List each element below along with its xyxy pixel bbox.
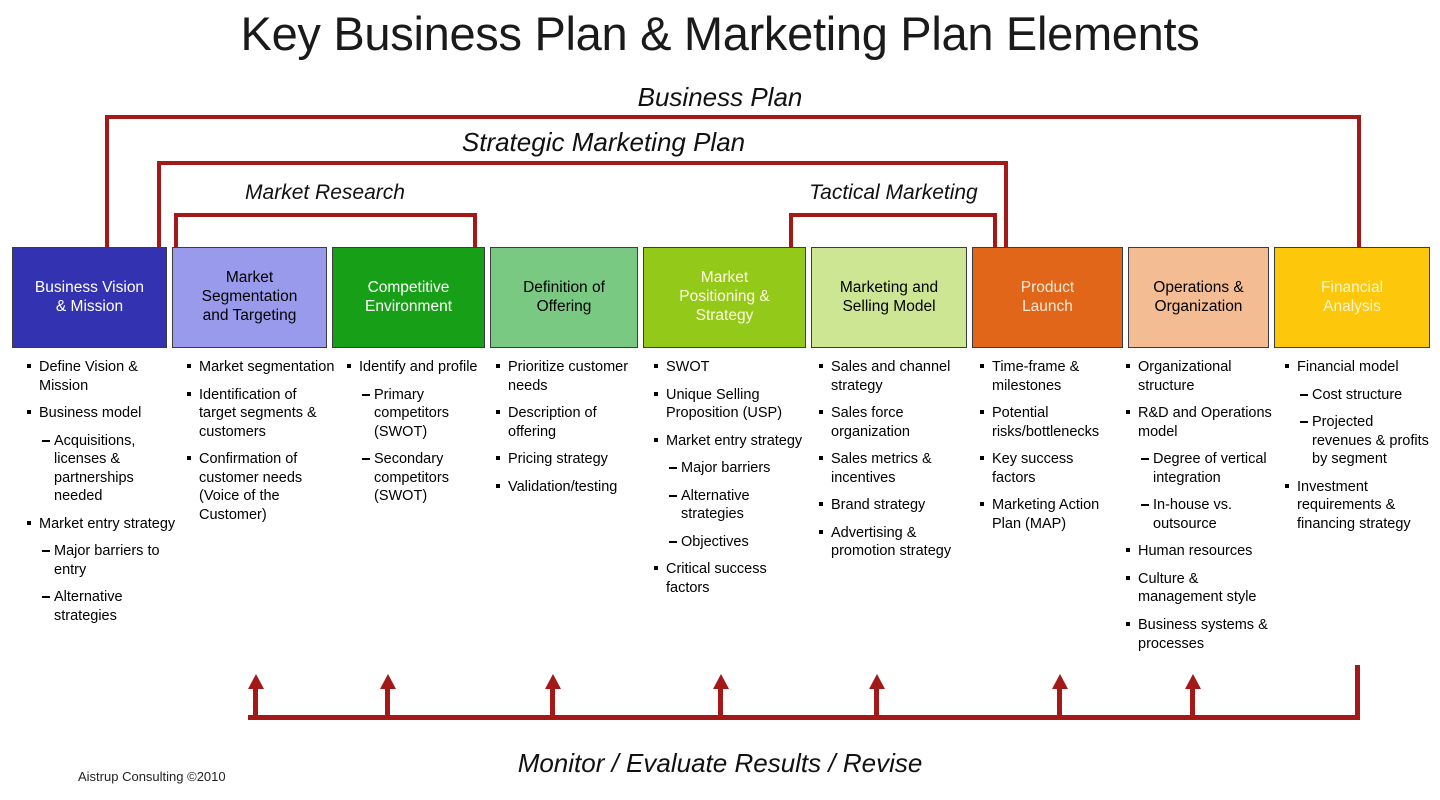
element-box-label: Financial Analysis [1321, 279, 1383, 317]
feedback-arrow-stem [550, 687, 555, 720]
label-market-research: Market Research [175, 181, 475, 205]
detail-list: Time-frame & milestonesPotential risks/b… [979, 358, 1119, 533]
bracket-market-research [174, 213, 477, 251]
list-sub-item: Alternative strategies [26, 588, 178, 625]
list-sub-item: Primary competitors (SWOT) [346, 386, 489, 442]
feedback-arrow-stem [385, 687, 390, 720]
detail-column: Market segmentationIdentification of tar… [186, 358, 336, 533]
list-item: Potential risks/bottlenecks [979, 404, 1119, 441]
list-item: Financial model [1284, 358, 1430, 377]
feedback-arrow-icon [713, 674, 729, 689]
list-item: Organizational structure [1125, 358, 1277, 395]
credit-line: Aistrup Consulting ©2010 [78, 769, 226, 784]
list-item: Prioritize customer needs [495, 358, 645, 395]
feedback-arrow-stem [253, 687, 258, 720]
label-tactical-marketing: Tactical Marketing [790, 181, 997, 205]
label-strategic-marketing-plan: Strategic Marketing Plan [0, 127, 1207, 158]
detail-column: SWOTUnique Selling Proposition (USP)Mark… [653, 358, 811, 606]
list-item: Culture & management style [1125, 570, 1277, 607]
list-item: Time-frame & milestones [979, 358, 1119, 395]
list-sub-item: Cost structure [1284, 386, 1430, 405]
feedback-arrow-icon [545, 674, 561, 689]
list-item: Description of offering [495, 404, 645, 441]
list-item: Critical success factors [653, 560, 811, 597]
detail-list: Prioritize customer needsDescription of … [495, 358, 645, 496]
detail-column: Identify and profilePrimary competitors … [346, 358, 489, 515]
element-box[interactable]: Market Segmentation and Targeting [172, 247, 327, 348]
feedback-right-riser [1355, 665, 1360, 720]
list-sub-item: Degree of vertical integration [1125, 450, 1277, 487]
detail-list: Define Vision & MissionBusiness modelAcq… [26, 358, 178, 626]
list-item: R&D and Operations model [1125, 404, 1277, 441]
list-item: Sales and channel strategy [818, 358, 970, 395]
list-sub-item: Major barriers [653, 459, 811, 478]
detail-column: Organizational structureR&D and Operatio… [1125, 358, 1277, 662]
detail-column: Prioritize customer needsDescription of … [495, 358, 645, 505]
page-title: Key Business Plan & Marketing Plan Eleme… [0, 6, 1440, 61]
detail-column: Sales and channel strategySales force or… [818, 358, 970, 570]
element-box[interactable]: Business Vision & Mission [12, 247, 167, 348]
feedback-arrow-icon [869, 674, 885, 689]
list-item: Business model [26, 404, 178, 423]
element-box[interactable]: Product Launch [972, 247, 1123, 348]
feedback-arrow-icon [1052, 674, 1068, 689]
list-item: Identification of target segments & cust… [186, 386, 336, 442]
list-item: SWOT [653, 358, 811, 377]
list-item: Advertising & promotion strategy [818, 524, 970, 561]
detail-list: Market segmentationIdentification of tar… [186, 358, 336, 524]
list-sub-item: Objectives [653, 533, 811, 552]
element-box-label: Business Vision & Mission [35, 279, 144, 317]
feedback-arrow-stem [874, 687, 879, 720]
detail-list: Identify and profilePrimary competitors … [346, 358, 489, 506]
list-sub-item: Secondary competitors (SWOT) [346, 450, 489, 506]
list-item: Confirmation of customer needs (Voice of… [186, 450, 336, 524]
element-box[interactable]: Definition of Offering [490, 247, 638, 348]
list-sub-item: Projected revenues & profits by segment [1284, 413, 1430, 469]
element-box-label: Market Positioning & Strategy [679, 269, 769, 326]
element-box-label: Definition of Offering [523, 279, 605, 317]
list-sub-item: Major barriers to entry [26, 542, 178, 579]
element-box[interactable]: Marketing and Selling Model [811, 247, 967, 348]
list-item: Human resources [1125, 542, 1277, 561]
feedback-arrow-stem [1057, 687, 1062, 720]
element-box-row: Business Vision & MissionMarket Segmenta… [12, 247, 1430, 348]
list-item: Brand strategy [818, 496, 970, 515]
list-sub-item: Alternative strategies [653, 487, 811, 524]
detail-column: Financial modelCost structureProjected r… [1284, 358, 1430, 542]
element-box[interactable]: Financial Analysis [1274, 247, 1430, 348]
bracket-tactical-marketing [789, 213, 997, 251]
list-item: Marketing Action Plan (MAP) [979, 496, 1119, 533]
list-sub-item: In-house vs. outsource [1125, 496, 1277, 533]
element-box-label: Operations & Organization [1153, 279, 1243, 317]
list-sub-item: Acquisitions, licenses & partnerships ne… [26, 432, 178, 506]
detail-list: SWOTUnique Selling Proposition (USP)Mark… [653, 358, 811, 597]
element-box-label: Competitive Environment [365, 279, 452, 317]
list-item: Unique Selling Proposition (USP) [653, 386, 811, 423]
element-box[interactable]: Market Positioning & Strategy [643, 247, 806, 348]
list-item: Sales force organization [818, 404, 970, 441]
list-item: Business systems & processes [1125, 616, 1277, 653]
list-item: Market entry strategy [653, 432, 811, 451]
detail-column: Time-frame & milestonesPotential risks/b… [979, 358, 1119, 542]
list-item: Key success factors [979, 450, 1119, 487]
feedback-arrow-stem [1190, 687, 1195, 720]
list-item: Sales metrics & incentives [818, 450, 970, 487]
feedback-loop [0, 665, 1440, 735]
list-item: Market entry strategy [26, 515, 178, 534]
list-item: Validation/testing [495, 478, 645, 497]
label-business-plan: Business Plan [0, 82, 1440, 113]
detail-list: Sales and channel strategySales force or… [818, 358, 970, 561]
list-item: Define Vision & Mission [26, 358, 178, 395]
feedback-arrow-icon [248, 674, 264, 689]
feedback-arrow-stem [718, 687, 723, 720]
feedback-arrow-icon [380, 674, 396, 689]
detail-list: Organizational structureR&D and Operatio… [1125, 358, 1277, 653]
detail-list: Financial modelCost structureProjected r… [1284, 358, 1430, 533]
element-box-label: Market Segmentation and Targeting [202, 269, 298, 326]
element-box-label: Marketing and Selling Model [840, 279, 938, 317]
element-box-label: Product Launch [1021, 279, 1074, 317]
detail-columns: Define Vision & MissionBusiness modelAcq… [12, 358, 1430, 668]
diagram-canvas: Key Business Plan & Marketing Plan Eleme… [0, 0, 1440, 800]
feedback-arrow-icon [1185, 674, 1201, 689]
element-box[interactable]: Operations & Organization [1128, 247, 1269, 348]
list-item: Market segmentation [186, 358, 336, 377]
list-item: Identify and profile [346, 358, 489, 377]
list-item: Pricing strategy [495, 450, 645, 469]
list-item: Investment requirements & financing stra… [1284, 478, 1430, 534]
detail-column: Define Vision & MissionBusiness modelAcq… [26, 358, 178, 635]
element-box[interactable]: Competitive Environment [332, 247, 485, 348]
